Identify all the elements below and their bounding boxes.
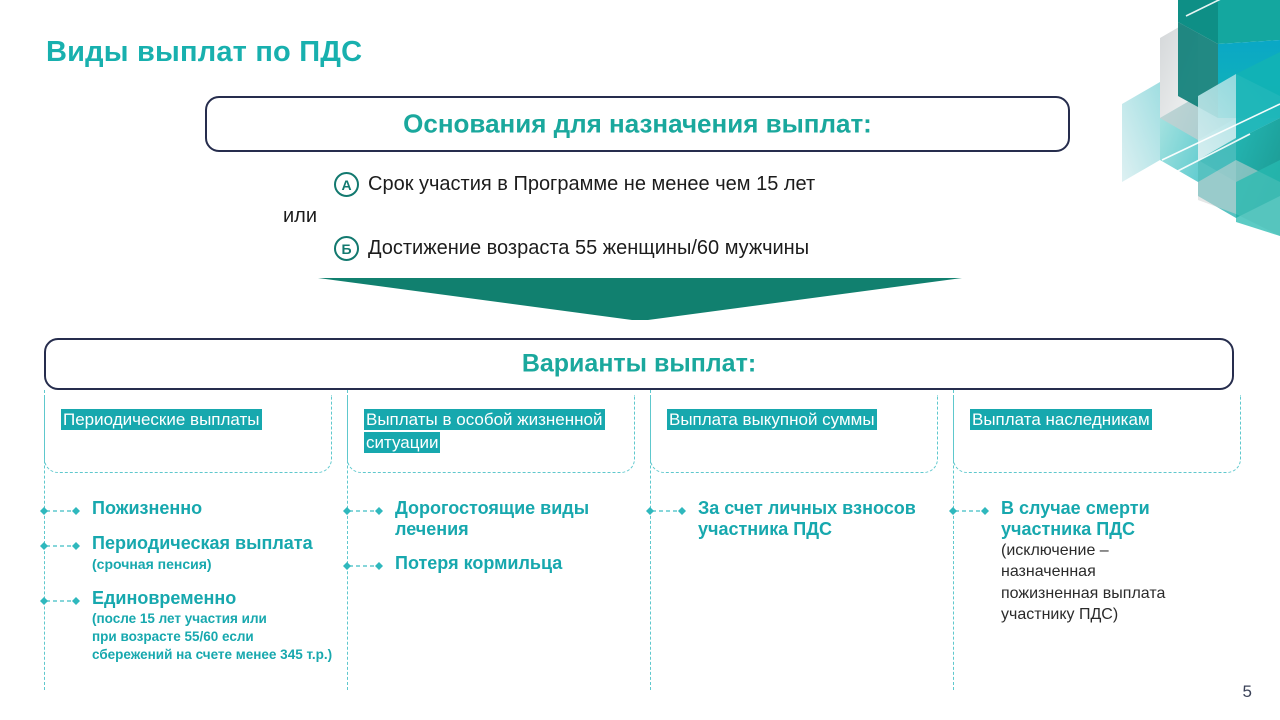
variant-item-text: В случае смерти участника ПДС bbox=[1001, 498, 1243, 539]
column-item-list: Дорогостоящие виды леченияПотеря кормиль… bbox=[347, 498, 637, 588]
variant-item: Потеря кормильца bbox=[347, 553, 637, 574]
condition-row-a: А Срок участия в Программе не менее чем … bbox=[334, 172, 815, 197]
column-header-label: Выплаты в особой жизненной ситуации bbox=[364, 408, 614, 454]
variant-column: Выплата наследникамВ случае смерти участ… bbox=[953, 390, 1243, 700]
column-header-box bbox=[44, 395, 332, 473]
page-title: Виды выплат по ПДС bbox=[46, 36, 362, 69]
variant-item: За счет личных взносов участника ПДС bbox=[650, 498, 940, 539]
dashed-connector-icon bbox=[947, 506, 993, 516]
variant-item-text: За счет личных взносов участника ПДС bbox=[698, 498, 940, 539]
variant-item: Дорогостоящие виды лечения bbox=[347, 498, 637, 539]
variant-item-main: Пожизненно bbox=[92, 498, 202, 518]
column-item-list: ПожизненноПериодическая выплата (срочная… bbox=[44, 498, 334, 678]
variants-columns: Периодические выплатыПожизненноПериодиче… bbox=[44, 390, 1240, 700]
column-header-label: Выплата выкупной суммы bbox=[667, 408, 917, 431]
condition-text-b: Достижение возраста 55 женщины/60 мужчин… bbox=[368, 237, 809, 260]
column-header-highlight: Выплата наследникам bbox=[970, 409, 1152, 430]
variant-item-main: Периодическая выплата bbox=[92, 533, 313, 553]
grounds-box: Основания для назначения выплат: bbox=[205, 96, 1070, 152]
variant-item-main: За счет личных взносов участника ПДС bbox=[698, 498, 916, 539]
column-header-label: Периодические выплаты bbox=[61, 408, 311, 431]
dashed-connector-icon bbox=[38, 506, 84, 516]
condition-text-a: Срок участия в Программе не менее чем 15… bbox=[368, 173, 815, 196]
variant-item-text: Единовременно bbox=[92, 588, 334, 609]
variant-item-text: Дорогостоящие виды лечения bbox=[395, 498, 637, 539]
variant-item-main: В случае смерти участника ПДС bbox=[1001, 498, 1150, 539]
variant-item-exception-note: (исключение – назначенная пожизненная вы… bbox=[1001, 540, 1243, 625]
dashed-connector-icon bbox=[38, 596, 84, 606]
variant-item-main: Потеря кормильца bbox=[395, 553, 562, 573]
variant-item: Пожизненно bbox=[44, 498, 334, 519]
variant-item-note: (срочная пенсия) bbox=[92, 556, 212, 572]
column-header-highlight: Выплата выкупной суммы bbox=[667, 409, 877, 430]
column-header-label: Выплата наследникам bbox=[970, 408, 1220, 431]
condition-badge-b: Б bbox=[334, 236, 359, 261]
dashed-connector-icon bbox=[341, 506, 387, 516]
column-header-highlight: Периодические выплаты bbox=[61, 409, 262, 430]
grounds-title: Основания для назначения выплат: bbox=[207, 109, 1068, 140]
variant-column: Выплата выкупной суммыЗа счет личных взн… bbox=[650, 390, 940, 700]
dashed-connector-icon bbox=[644, 506, 690, 516]
page-number: 5 bbox=[1243, 682, 1252, 702]
down-chevron-icon bbox=[318, 278, 962, 320]
column-header-box bbox=[953, 395, 1241, 473]
condition-row-b: Б Достижение возраста 55 женщины/60 мужч… bbox=[334, 236, 809, 261]
variant-item-main: Дорогостоящие виды лечения bbox=[395, 498, 589, 539]
variant-item: В случае смерти участника ПДС(исключение… bbox=[953, 498, 1243, 625]
variants-box: Варианты выплат: bbox=[44, 338, 1234, 390]
dashed-connector-icon bbox=[341, 561, 387, 571]
variants-title: Варианты выплат: bbox=[46, 350, 1232, 379]
condition-or-label: или bbox=[283, 205, 317, 228]
variant-item: Единовременно(после 15 лет участия или п… bbox=[44, 588, 334, 664]
variant-item-subtext: (после 15 лет участия или при возрасте 5… bbox=[92, 610, 334, 663]
dashed-connector-icon bbox=[38, 541, 84, 551]
decorative-cubes-graphic bbox=[1100, 0, 1280, 236]
variant-item-text: Потеря кормильца bbox=[395, 553, 637, 574]
column-header-box bbox=[650, 395, 938, 473]
variant-column: Выплаты в особой жизненной ситуацииДорог… bbox=[347, 390, 637, 700]
column-header-highlight: Выплаты в особой жизненной ситуации bbox=[364, 409, 605, 453]
variant-item-main: Единовременно bbox=[92, 588, 236, 608]
variant-item-text: Пожизненно bbox=[92, 498, 334, 519]
variant-column: Периодические выплатыПожизненноПериодиче… bbox=[44, 390, 334, 700]
condition-badge-a: А bbox=[334, 172, 359, 197]
variant-item-text: Периодическая выплата (срочная пенсия) bbox=[92, 533, 334, 574]
column-item-list: В случае смерти участника ПДС(исключение… bbox=[953, 498, 1243, 639]
column-item-list: За счет личных взносов участника ПДС bbox=[650, 498, 940, 553]
variant-item: Периодическая выплата (срочная пенсия) bbox=[44, 533, 334, 574]
